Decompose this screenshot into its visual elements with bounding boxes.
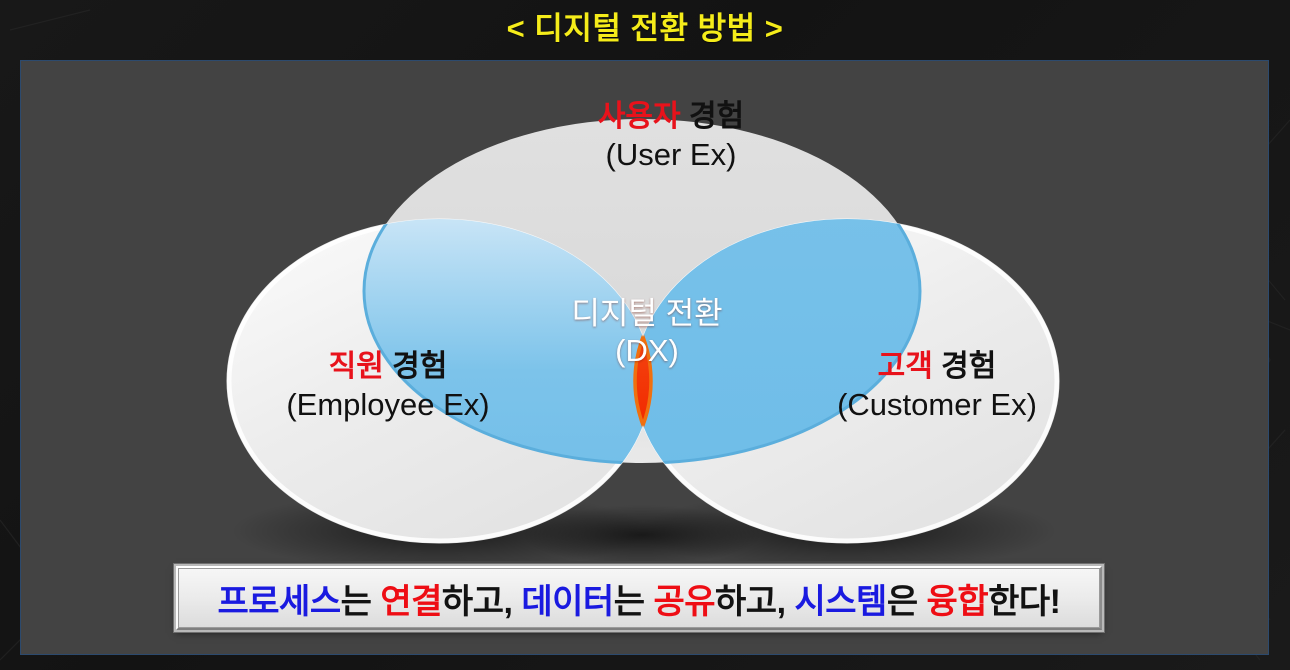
banner-segment-2: 연결 [380, 583, 442, 621]
banner-segment-8: 시스템 [794, 583, 886, 621]
banner-segment-5: 는 [614, 583, 654, 621]
summary-banner: 프로세스는 연결하고, 데이터는 공유하고, 시스템은 융합한다! [176, 566, 1102, 630]
banner-segment-0: 프로세스 [218, 583, 341, 621]
banner-segment-1: 는 [341, 583, 381, 621]
banner-segment-3: 하고, [442, 583, 521, 621]
summary-banner-text: 프로세스는 연결하고, 데이터는 공유하고, 시스템은 융합한다! [218, 574, 1061, 623]
slide-canvas: < 디지털 전환 방법 > [0, 0, 1290, 670]
banner-segment-11: 한다! [988, 583, 1060, 621]
venn-diagram: 사용자 경험 (User Ex) 직원 경험 (Employee Ex) 고객 … [21, 61, 1269, 561]
banner-segment-7: 하고, [715, 583, 794, 621]
banner-segment-9: 은 [887, 583, 927, 621]
banner-segment-4: 데이터 [521, 583, 613, 621]
banner-segment-6: 공유 [653, 583, 715, 621]
summary-banner-inner: 프로세스는 연결하고, 데이터는 공유하고, 시스템은 융합한다! [178, 568, 1100, 628]
banner-segment-10: 융합 [927, 583, 989, 621]
page-title: < 디지털 전환 방법 > [0, 8, 1290, 50]
content-panel: 사용자 경험 (User Ex) 직원 경험 (Employee Ex) 고객 … [20, 60, 1269, 655]
